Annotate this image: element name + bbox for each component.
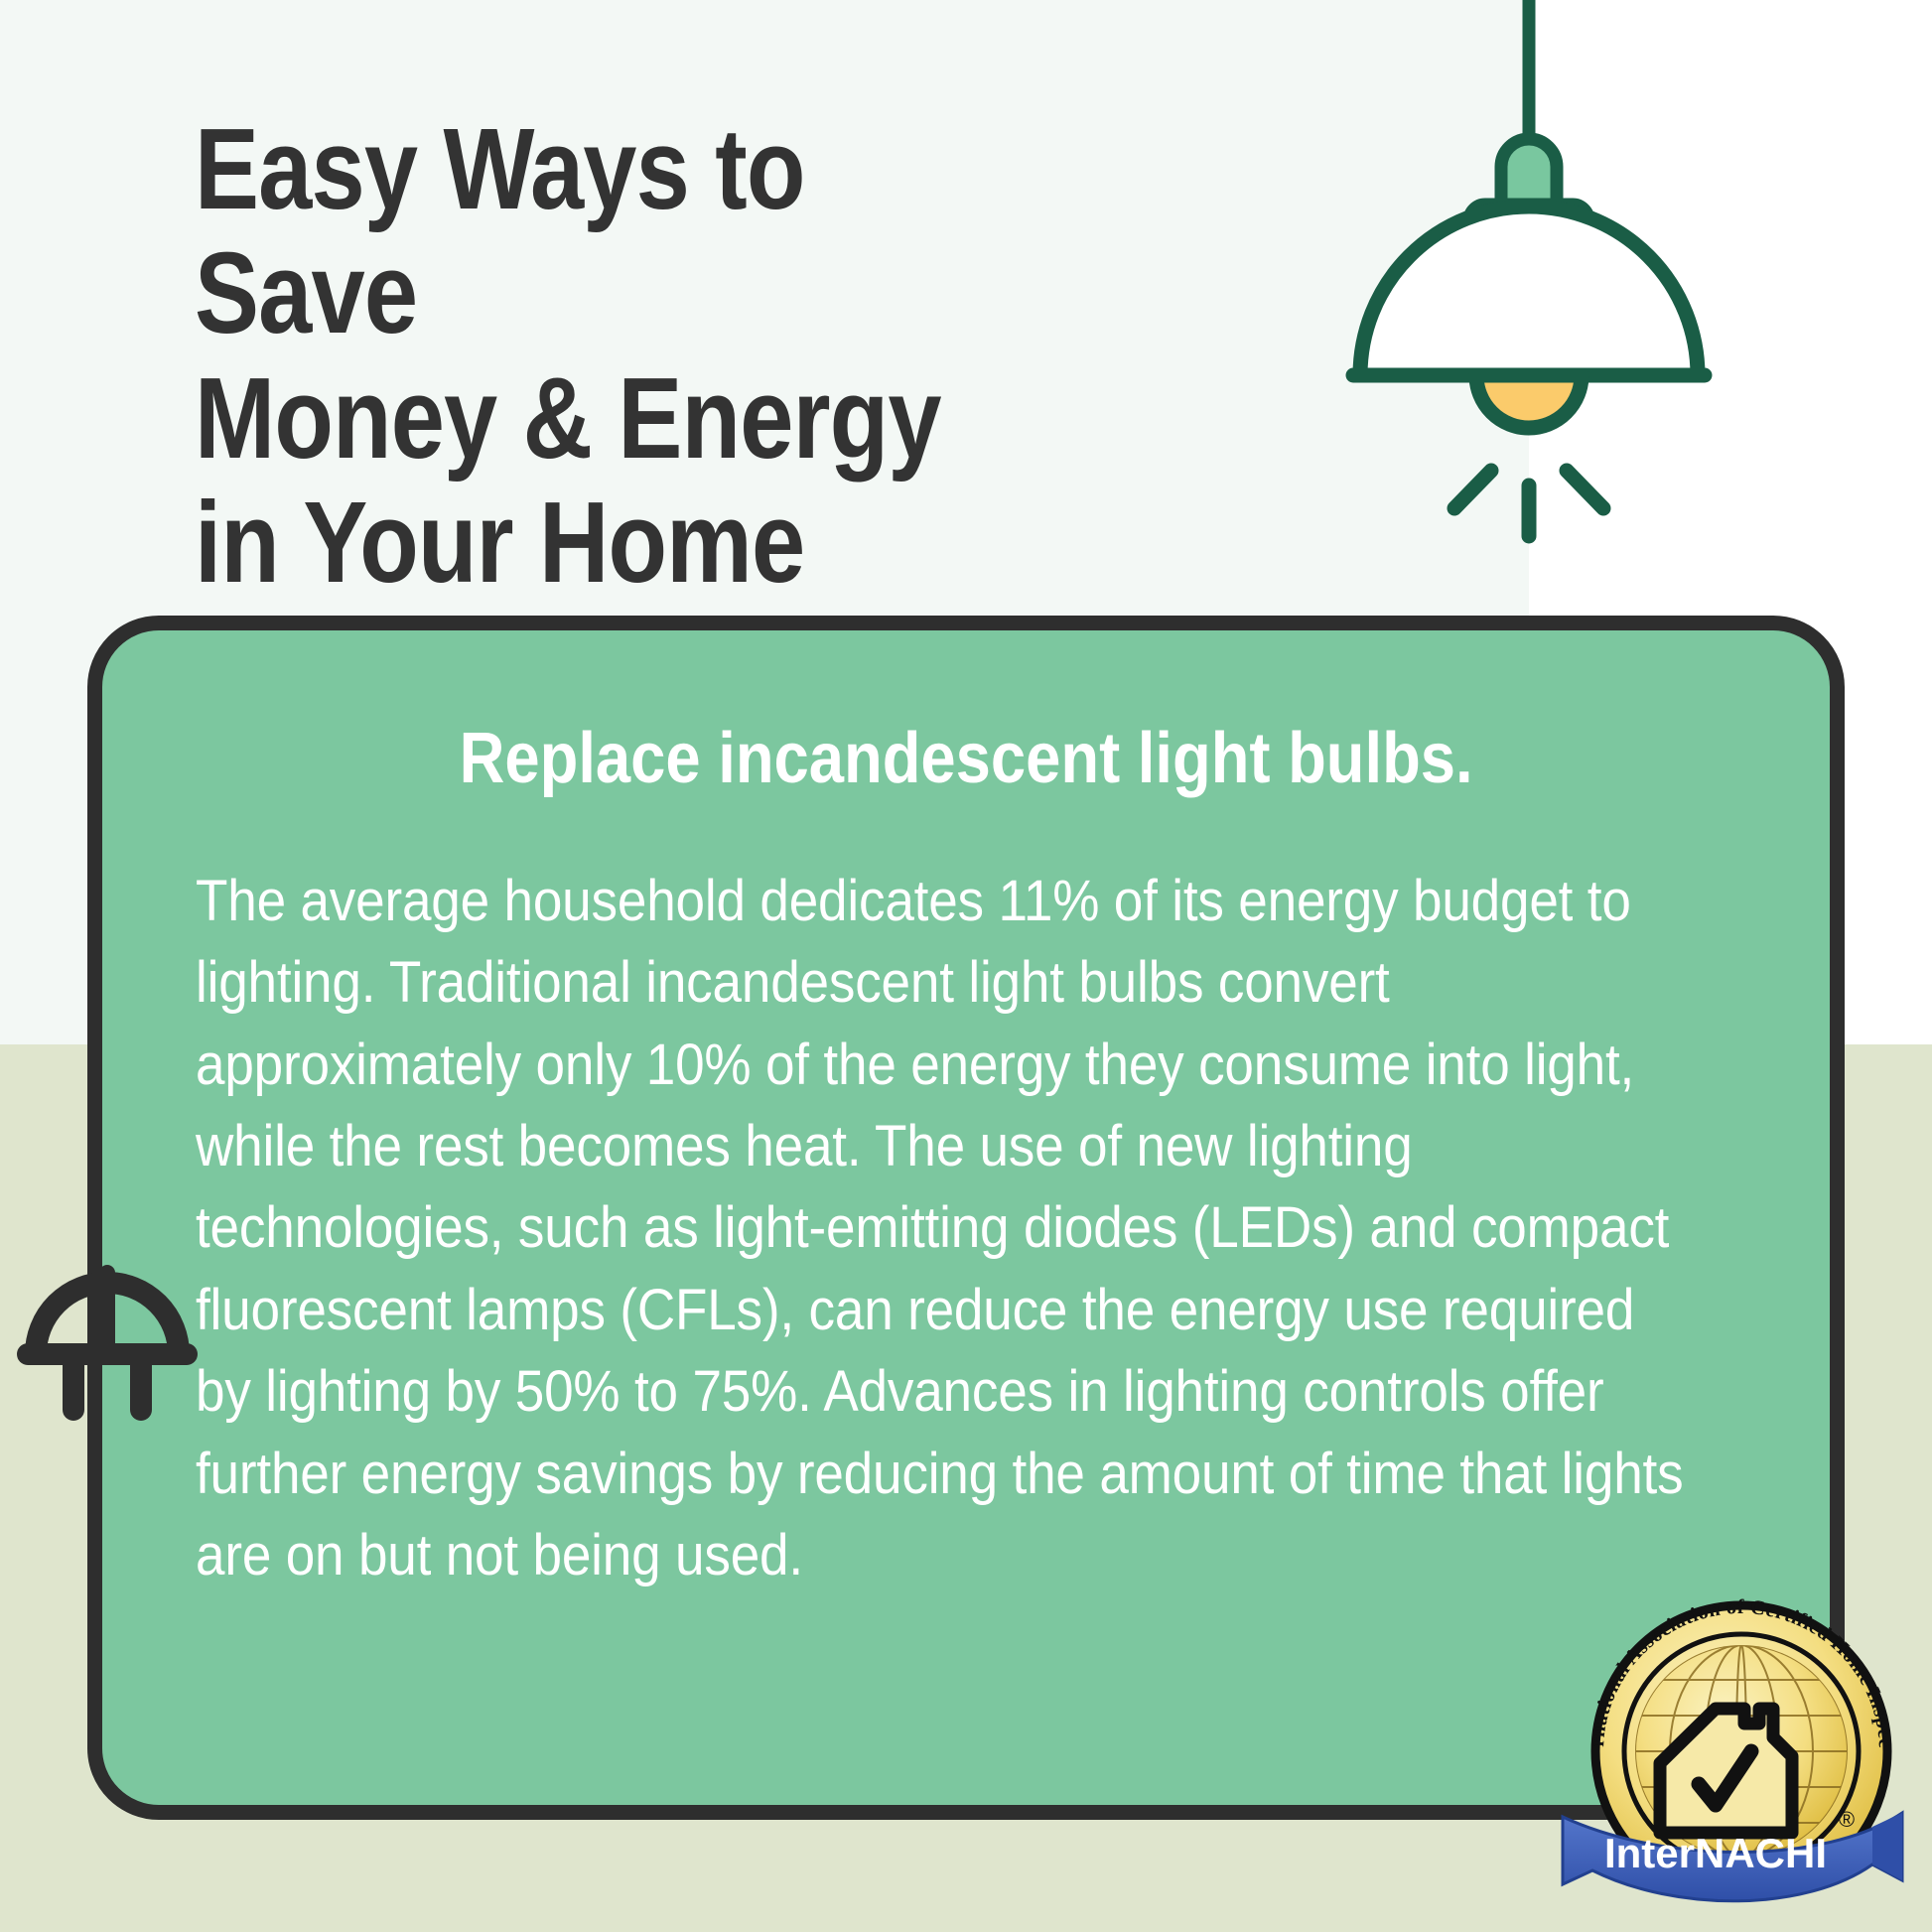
page-title: Easy Ways to Save Money & Energy in Your… bbox=[195, 107, 1029, 605]
seal-banner-text: InterNACHI bbox=[1604, 1830, 1827, 1876]
pendant-lamp-icon bbox=[1320, 0, 1737, 576]
card-heading: Replace incandescent light bulbs. bbox=[102, 718, 1830, 799]
plug-icon bbox=[16, 1263, 205, 1442]
card-body-text: The average household dedicates 11% of i… bbox=[196, 861, 1695, 1596]
infographic-poster: Easy Ways to Save Money & Energy in Your… bbox=[0, 0, 1932, 1932]
card-body: The average household dedicates 11% of i… bbox=[196, 861, 1695, 1596]
internachi-seal-icon: International Association of Certified H… bbox=[1557, 1567, 1916, 1926]
card-heading-text: Replace incandescent light bulbs. bbox=[459, 718, 1472, 799]
registered-mark-icon: ® bbox=[1839, 1807, 1855, 1832]
